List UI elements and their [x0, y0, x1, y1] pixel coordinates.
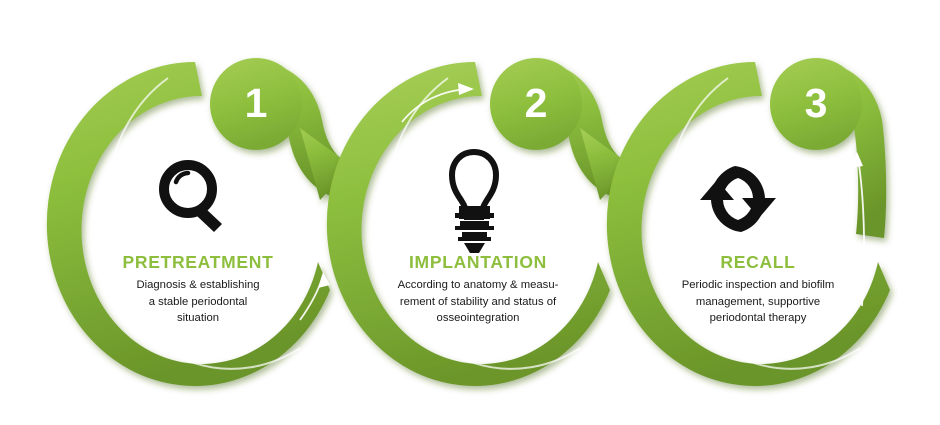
desc-line: According to anatomy & measu-: [373, 277, 583, 294]
step-title-implantation: IMPLANTATION: [348, 252, 608, 273]
step-desc-recall: Periodic inspection and biofilm manageme…: [653, 277, 863, 327]
infographic-canvas: 1 2 3 PRETREATMENT Diagnosis & establish…: [0, 0, 940, 425]
dental-implant-icon: [452, 152, 496, 253]
desc-line: situation: [98, 310, 298, 327]
desc-line: a stable periodontal: [98, 294, 298, 311]
step-number-1: 1: [236, 80, 276, 127]
magnifier-icon: [164, 165, 222, 232]
desc-line: Periodic inspection and biofilm: [653, 277, 863, 294]
step-desc-pretreatment: Diagnosis & establishing a stable period…: [98, 277, 298, 327]
step-title-pretreatment: PRETREATMENT: [68, 252, 328, 273]
desc-line: management, supportive: [653, 294, 863, 311]
step-desc-implantation: According to anatomy & measu- rement of …: [373, 277, 583, 327]
process-rings-graphic: [0, 0, 940, 425]
recycle-cycle-icon: [700, 166, 776, 232]
step-number-2: 2: [516, 80, 556, 127]
desc-line: Diagnosis & establishing: [98, 277, 298, 294]
desc-line: osseointegration: [373, 310, 583, 327]
step-number-3: 3: [796, 80, 836, 127]
step-title-recall: RECALL: [628, 252, 888, 273]
desc-line: periodontal therapy: [653, 310, 863, 327]
ring-group-1: [47, 58, 352, 386]
desc-line: rement of stability and status of: [373, 294, 583, 311]
